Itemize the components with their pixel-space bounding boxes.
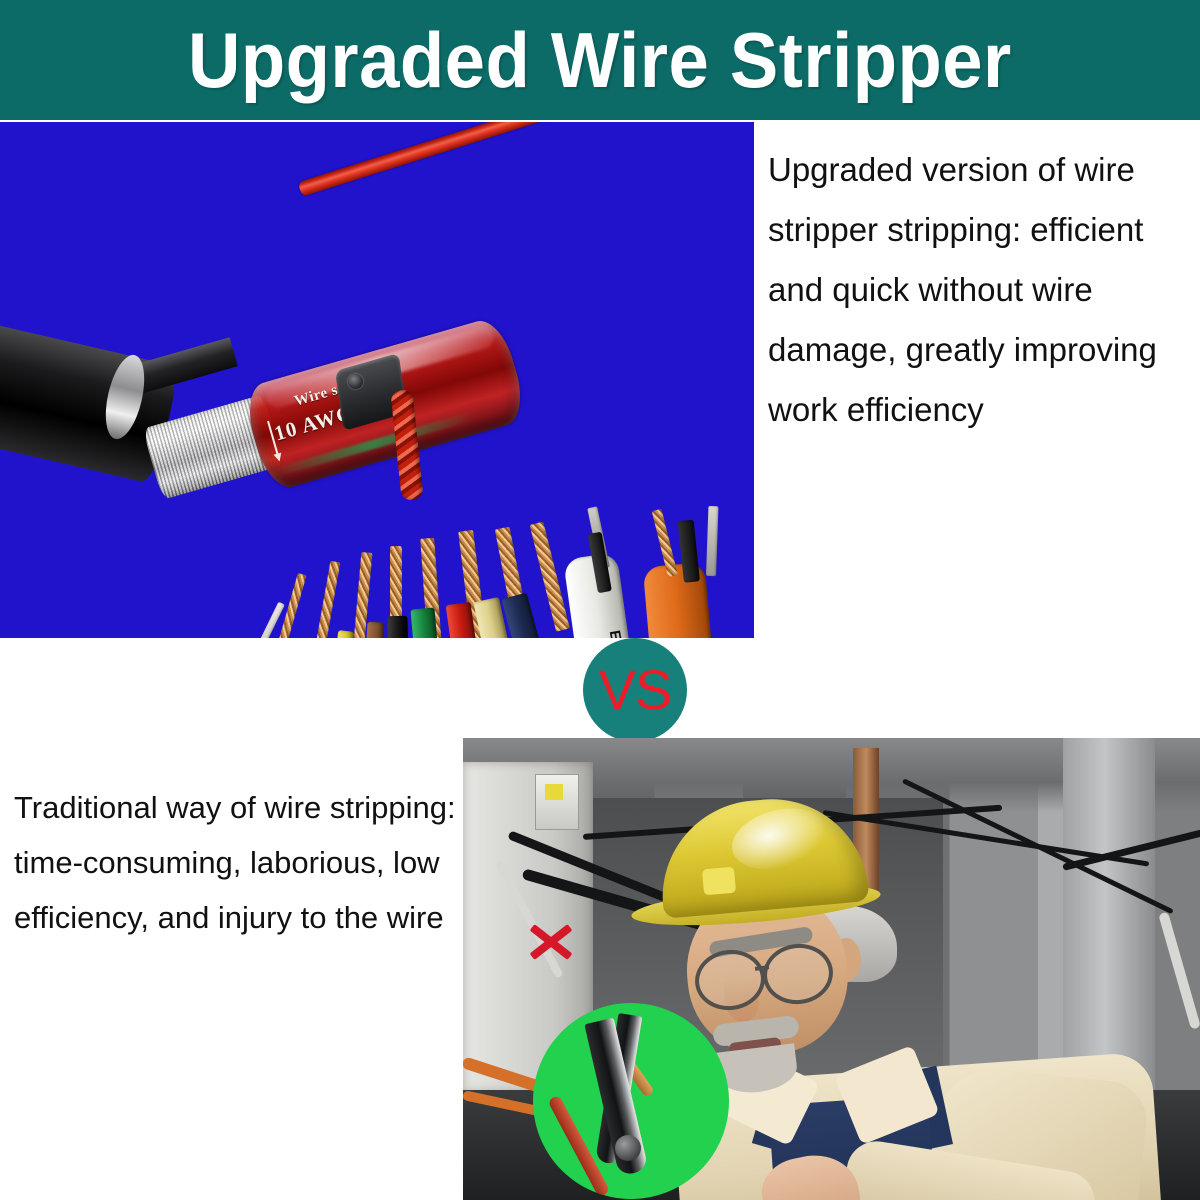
wire-copper-tip	[312, 561, 340, 638]
wire-copper-tip	[706, 506, 718, 576]
red-wire-feed	[298, 122, 751, 197]
x-mark-icon	[527, 918, 573, 964]
wire-strand	[410, 608, 448, 638]
product-infographic: Upgraded Wire Stripper Wire stripper 10 …	[0, 0, 1200, 1200]
vs-label: VS	[599, 662, 672, 718]
traditional-description: Traditional way of wire stripping: time-…	[14, 780, 464, 946]
traditional-worker-photo	[463, 738, 1200, 1200]
background-breaker-toggle	[545, 784, 563, 800]
wire-marking-text: E350439	[606, 629, 634, 638]
upgraded-product-photo: Wire stripper 10 AWG E35431 THHN 10 AWG …	[0, 122, 754, 638]
vs-badge: VS	[583, 638, 687, 742]
upgraded-description: Upgraded version of wire stripper stripp…	[768, 140, 1188, 440]
wire-copper-tip	[268, 573, 306, 638]
wire-strand	[387, 616, 410, 638]
page-title: Upgraded Wire Stripper	[188, 21, 1012, 99]
blade-adjust-screw	[348, 374, 363, 389]
background-breaker	[535, 774, 579, 830]
wire-copper-tip	[530, 522, 570, 632]
header-banner: Upgraded Wire Stripper	[0, 0, 1200, 120]
wire-copper-tip	[230, 602, 285, 638]
hard-hat-lamp	[702, 867, 736, 896]
scissors-pivot	[615, 1135, 641, 1161]
scissors-highlight-circle	[533, 1003, 729, 1199]
